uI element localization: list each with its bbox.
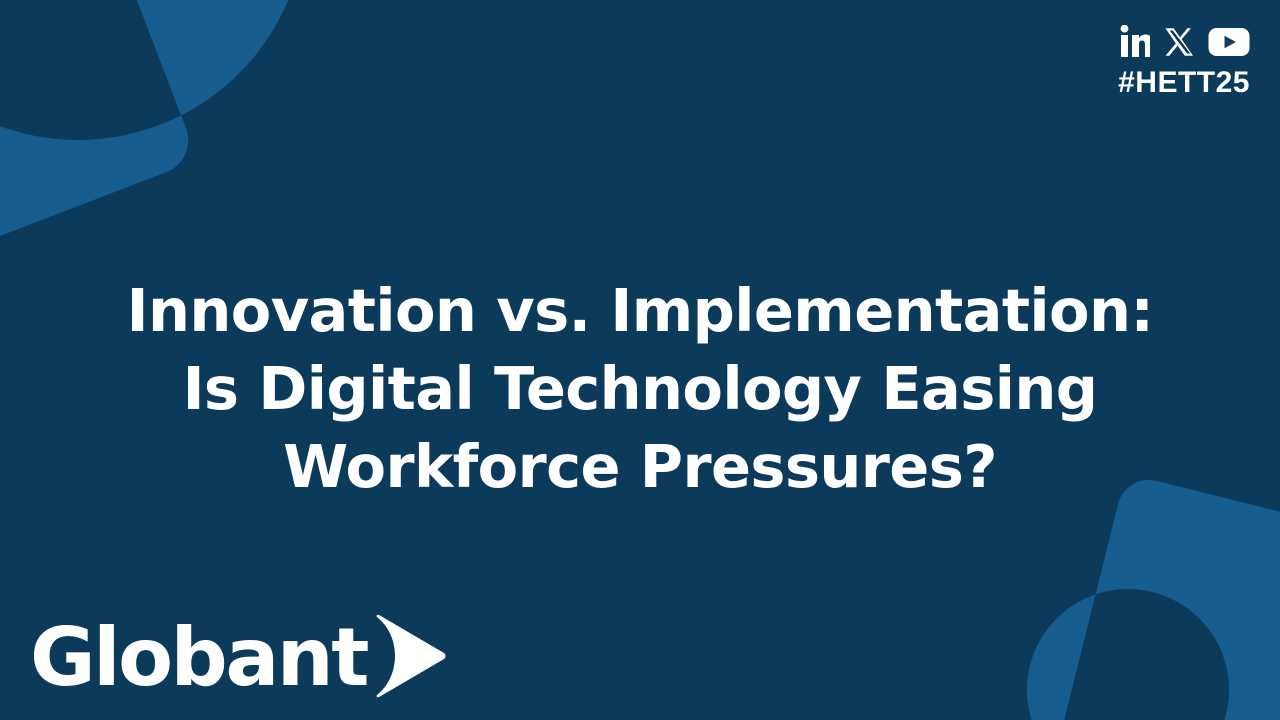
social-bar: #HETT25 (1118, 22, 1250, 98)
linkedin-icon[interactable] (1120, 25, 1150, 59)
hashtag-label: #HETT25 (1118, 68, 1250, 98)
social-icon-group (1120, 22, 1250, 62)
x-twitter-icon[interactable] (1164, 27, 1194, 57)
youtube-icon[interactable] (1208, 27, 1250, 57)
slide-title-line-3: Workforce Pressures? (40, 428, 1240, 506)
slide-title: Innovation vs. Implementation: Is Digita… (0, 272, 1280, 506)
globant-wordmark: Globant (30, 618, 367, 698)
slide-title-line-1: Innovation vs. Implementation: (40, 272, 1240, 350)
globant-arrow-icon (371, 614, 449, 698)
slide-title-line-2: Is Digital Technology Easing (40, 350, 1240, 428)
globant-logo: Globant (30, 614, 449, 702)
presentation-slide: #HETT25 Innovation vs. Implementation: I… (0, 0, 1280, 720)
